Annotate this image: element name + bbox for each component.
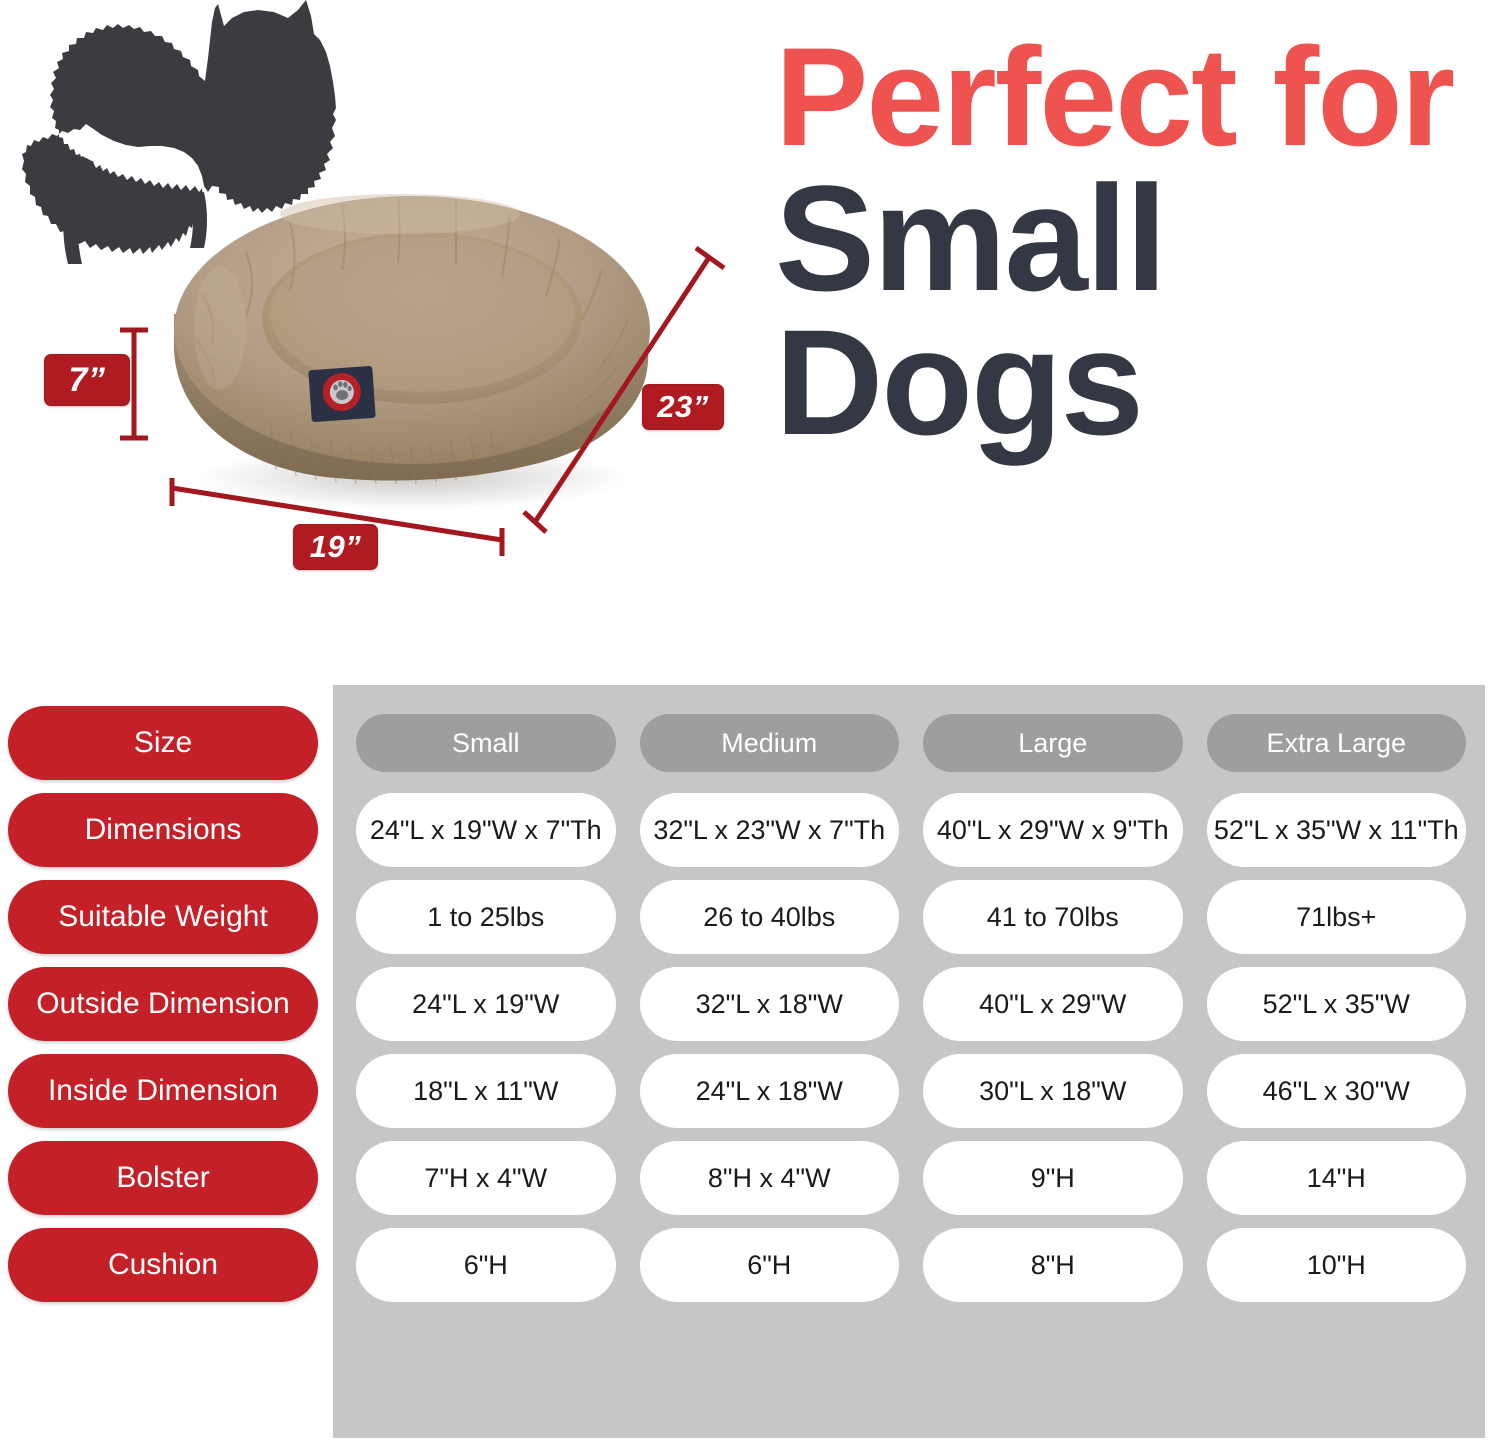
- row-label-bolster: Bolster: [8, 1141, 318, 1215]
- cell-cushion-extra-large: 10"H: [1207, 1228, 1467, 1302]
- cell-cushion-medium: 6"H: [640, 1228, 900, 1302]
- size-spec-table: Size Dimensions Suitable Weight Outside …: [0, 660, 1500, 1444]
- cell-dimensions-large: 40"L x 29"W x 9"Th: [923, 793, 1183, 867]
- headline-line-2: Small: [775, 166, 1490, 310]
- cell-outside-dimension-extra-large: 52"L x 35"W: [1207, 967, 1467, 1041]
- row-label-dimensions: Dimensions: [8, 793, 318, 867]
- cell-outside-dimension-large: 40"L x 29"W: [923, 967, 1183, 1041]
- cell-dimensions-extra-large: 52"L x 35"W x 11"Th: [1207, 793, 1467, 867]
- table-cells-grid: Small Medium Large Extra Large 24"L x 19…: [356, 706, 1466, 1302]
- cell-outside-dimension-medium: 32"L x 18"W: [640, 967, 900, 1041]
- row-label-column: Size Dimensions Suitable Weight Outside …: [8, 706, 318, 1302]
- cell-dimensions-medium: 32"L x 23"W x 7"Th: [640, 793, 900, 867]
- cell-suitable-weight-extra-large: 71lbs+: [1207, 880, 1467, 954]
- cell-cushion-small: 6"H: [356, 1228, 616, 1302]
- cell-bolster-medium: 8"H x 4"W: [640, 1141, 900, 1215]
- height-measurement-label: 7”: [69, 361, 106, 400]
- headline-line-1: Perfect for: [775, 30, 1490, 164]
- headline-block: Perfect for Small Dogs: [775, 30, 1490, 454]
- cell-outside-dimension-small: 24"L x 19"W: [356, 967, 616, 1041]
- hero-section: 7” 19” 23” Perfect for Small Dogs: [0, 0, 1500, 660]
- row-label-inside-dimension: Inside Dimension: [8, 1054, 318, 1128]
- cell-inside-dimension-medium: 24"L x 18"W: [640, 1054, 900, 1128]
- row-label-size: Size: [8, 706, 318, 780]
- brand-tag: [308, 366, 375, 422]
- row-label-cushion: Cushion: [8, 1228, 318, 1302]
- cell-suitable-weight-large: 41 to 70lbs: [923, 880, 1183, 954]
- cell-bolster-extra-large: 14"H: [1207, 1141, 1467, 1215]
- column-header-medium: Medium: [640, 714, 900, 772]
- cell-suitable-weight-small: 1 to 25lbs: [356, 880, 616, 954]
- cell-suitable-weight-medium: 26 to 40lbs: [640, 880, 900, 954]
- cell-inside-dimension-large: 30"L x 18"W: [923, 1054, 1183, 1128]
- cell-inside-dimension-small: 18"L x 11"W: [356, 1054, 616, 1128]
- depth-measurement-label: 23”: [657, 389, 708, 425]
- bolster-dog-bed-photo: [150, 178, 670, 518]
- column-header-small: Small: [356, 714, 616, 772]
- height-measurement-chip: 7”: [44, 354, 130, 406]
- width-measurement-label: 19”: [310, 529, 361, 565]
- headline-line-3: Dogs: [775, 310, 1490, 454]
- cell-cushion-large: 8"H: [923, 1228, 1183, 1302]
- width-measurement-chip: 19”: [293, 524, 378, 570]
- cell-inside-dimension-extra-large: 46"L x 30"W: [1207, 1054, 1467, 1128]
- cell-dimensions-small: 24"L x 19"W x 7"Th: [356, 793, 616, 867]
- depth-measurement-chip: 23”: [642, 384, 724, 430]
- cell-bolster-large: 9"H: [923, 1141, 1183, 1215]
- column-header-large: Large: [923, 714, 1183, 772]
- row-label-outside-dimension: Outside Dimension: [8, 967, 318, 1041]
- column-header-extra-large: Extra Large: [1207, 714, 1467, 772]
- cell-bolster-small: 7"H x 4"W: [356, 1141, 616, 1215]
- row-label-suitable-weight: Suitable Weight: [8, 880, 318, 954]
